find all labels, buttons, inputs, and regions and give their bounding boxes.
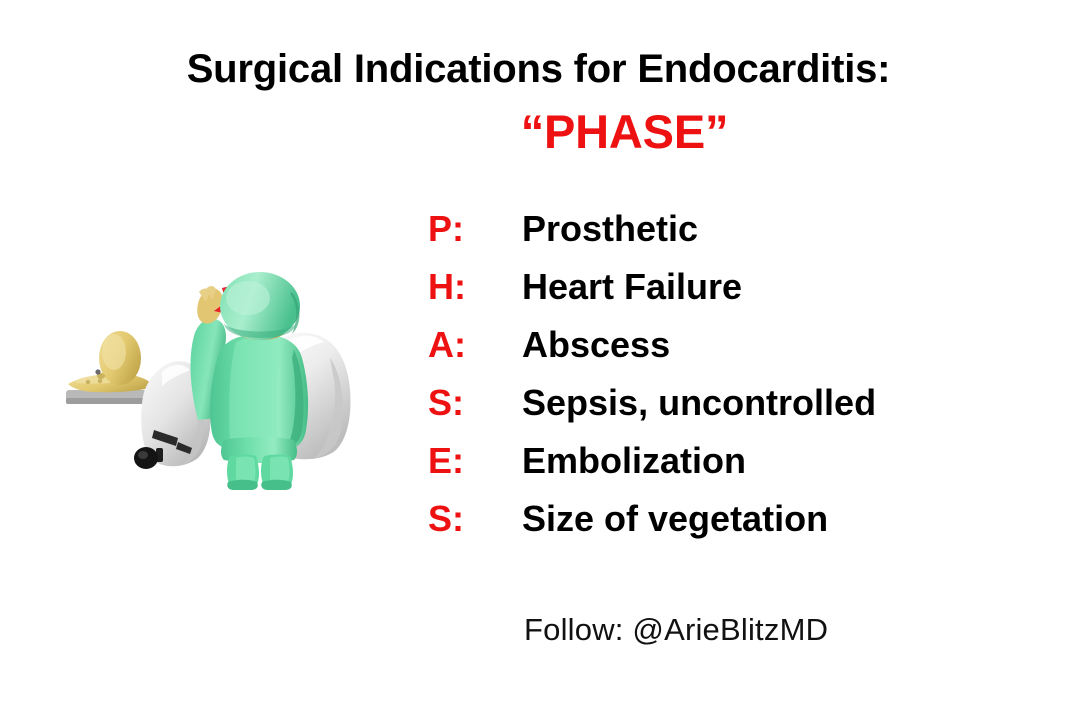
acronym-text-h: Heart Failure	[522, 266, 742, 308]
acronym-letter-a: A:	[428, 324, 522, 366]
list-item: P: Prosthetic	[428, 208, 988, 266]
acronym-letter-p: P:	[428, 208, 522, 250]
acronym-letter-s2: S:	[428, 498, 522, 540]
list-item: E: Embolization	[428, 440, 988, 498]
acronym-text-p: Prosthetic	[522, 208, 698, 250]
list-item: H: Heart Failure	[428, 266, 988, 324]
acronym-text-a: Abscess	[522, 324, 670, 366]
acronym-list: P: Prosthetic H: Heart Failure A: Absces…	[428, 208, 988, 556]
slide-canvas: Surgical Indications for Endocarditis: “…	[0, 0, 1069, 725]
patient-figure	[68, 331, 154, 392]
acronym-text-s1: Sepsis, uncontrolled	[522, 382, 876, 424]
acronym-letter-h: H:	[428, 266, 522, 308]
list-item: S: Sepsis, uncontrolled	[428, 382, 988, 440]
list-item: A: Abscess	[428, 324, 988, 382]
list-item: S: Size of vegetation	[428, 498, 988, 556]
acronym-text-s2: Size of vegetation	[522, 498, 828, 540]
surgeon-figure	[191, 272, 309, 490]
acronym-letter-s1: S:	[428, 382, 522, 424]
acronym-text-e: Embolization	[522, 440, 746, 482]
surgeon-illustration	[58, 262, 388, 490]
follow-handle-text: Follow: @ArieBlitzMD	[524, 612, 828, 648]
acronym-letter-e: E:	[428, 440, 522, 482]
page-title: Surgical Indications for Endocarditis:	[0, 45, 1069, 93]
acronym-title: “PHASE”	[0, 104, 1069, 160]
